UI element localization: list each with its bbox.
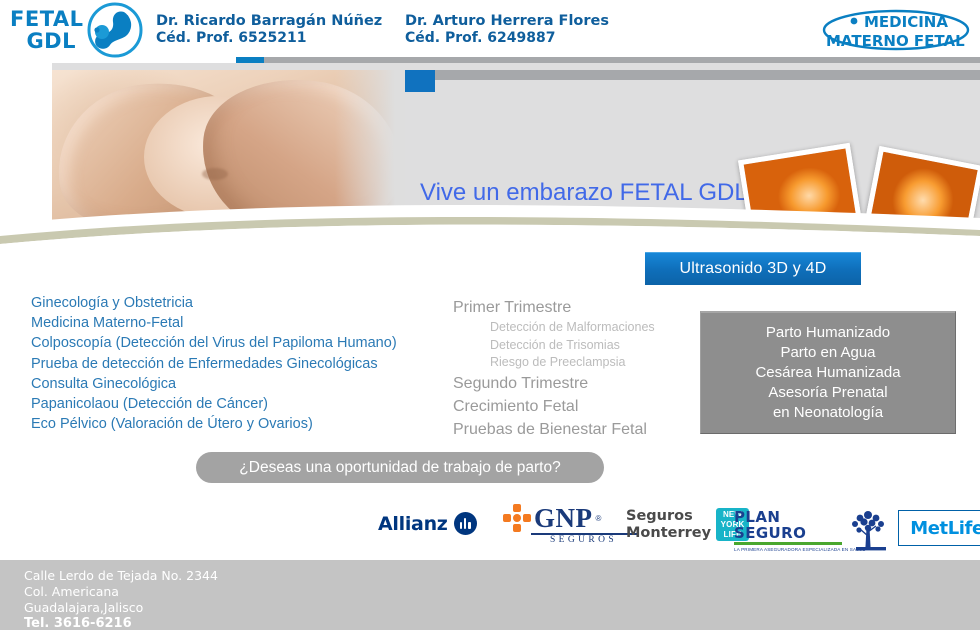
ultrasonido-3d-4d-button[interactable]: Ultrasonido 3D y 4D bbox=[645, 252, 861, 285]
gnp-label: GNP bbox=[534, 504, 593, 532]
allianz-bars-icon bbox=[454, 512, 477, 535]
list-item[interactable]: Papanicolaou (Detección de Cáncer) bbox=[31, 394, 461, 414]
fetal-gdl-wordmark[interactable]: FETAL GDL bbox=[10, 8, 80, 54]
birth-service-item: Cesárea Humanizada bbox=[755, 363, 900, 383]
address-colony: Col. Americana bbox=[24, 584, 218, 600]
allianz-label: Allianz bbox=[378, 513, 448, 535]
trimester-list: Primer Trimestre Detección de Malformaci… bbox=[453, 296, 683, 441]
page-header: FETAL GDL Dr. Ricardo Barragán Núñez Céd… bbox=[0, 0, 980, 60]
list-item[interactable]: Eco Pélvico (Valoración de Útero y Ovari… bbox=[31, 414, 461, 434]
ultrasonido-button-label: Ultrasonido 3D y 4D bbox=[680, 260, 827, 278]
list-item[interactable]: Consulta Ginecológica bbox=[31, 374, 461, 394]
address-city: Guadalajara,Jalisco bbox=[24, 600, 218, 616]
metlife-label: MetLife bbox=[910, 518, 980, 539]
birth-services-box: Parto Humanizado Parto en Agua Cesárea H… bbox=[700, 311, 956, 434]
birth-service-item: Parto en Agua bbox=[780, 343, 875, 363]
trimester-first-sub: Riesgo de Preeclampsia bbox=[453, 354, 683, 372]
banner-accent-gray-strip bbox=[435, 70, 980, 80]
birth-service-item: Parto Humanizado bbox=[766, 323, 890, 343]
seguros-monterrey-logo[interactable]: Seguros Monterrey NEW YORK LIFE bbox=[626, 508, 749, 541]
list-item[interactable]: Medicina Materno-Fetal bbox=[31, 313, 461, 333]
smty-line-1: Seguros bbox=[626, 508, 693, 524]
doctor-1-info: Dr. Ricardo Barragán Núñez Céd. Prof. 65… bbox=[156, 13, 382, 47]
doctor-2-license: Céd. Prof. 6249887 bbox=[405, 30, 609, 47]
gnp-starburst-icon bbox=[503, 504, 531, 532]
labor-opportunity-cta[interactable]: ¿Deseas una oportunidad de trabajo de pa… bbox=[196, 452, 604, 483]
fetal-wellbeing-tests: Pruebas de Bienestar Fetal bbox=[453, 418, 683, 441]
list-item[interactable]: Colposcopía (Detección del Virus del Pap… bbox=[31, 333, 461, 353]
gnp-seguros-logo[interactable]: GNP ® SEGUROS bbox=[503, 504, 638, 545]
svg-text:MEDICINA: MEDICINA bbox=[864, 13, 948, 31]
cta-label: ¿Deseas una oportunidad de trabajo de pa… bbox=[239, 459, 560, 477]
trimester-first: Primer Trimestre bbox=[453, 296, 683, 319]
insurance-partners: Allianz GNP ® SEGUROS Seguros Monterrey … bbox=[378, 502, 978, 554]
doctor-1-license: Céd. Prof. 6525211 bbox=[156, 30, 382, 47]
svg-text:MATERNO FETAL: MATERNO FETAL bbox=[826, 32, 965, 50]
banner-accent-blue-block bbox=[405, 70, 435, 92]
doctor-2-name: Dr. Arturo Herrera Flores bbox=[405, 13, 609, 30]
birth-service-item: en Neonatología bbox=[773, 403, 883, 423]
logo-line-1: FETAL bbox=[10, 8, 80, 30]
gnp-registered-mark: ® bbox=[596, 514, 602, 523]
trimester-first-sub: Detección de Malformaciones bbox=[453, 319, 683, 337]
page-footer: Calle Lerdo de Tejada No. 2344 Col. Amer… bbox=[0, 560, 980, 630]
fetus-logo-icon bbox=[84, 2, 146, 58]
wave-divider bbox=[0, 196, 980, 258]
metlife-logo[interactable]: MetLife bbox=[898, 510, 980, 546]
smty-line-2: Monterrey bbox=[626, 525, 711, 541]
clinic-landing-page: FETAL GDL Dr. Ricardo Barragán Núñez Céd… bbox=[0, 0, 980, 630]
list-item[interactable]: Ginecología y Obstetricia bbox=[31, 293, 461, 313]
tree-icon bbox=[842, 506, 894, 552]
trimester-second: Segundo Trimestre bbox=[453, 372, 683, 395]
birth-service-item: Asesoría Prenatal bbox=[768, 383, 887, 403]
fetal-growth: Crecimiento Fetal bbox=[453, 395, 683, 418]
plan-seguro-logo[interactable]: PLAN SEGURO LA PRIMERA ASEGURADORA ESPEC… bbox=[734, 510, 894, 552]
navel bbox=[202, 168, 228, 180]
list-item[interactable]: Prueba de detección de Enfermedades Gine… bbox=[31, 354, 461, 374]
services-list: Ginecología y Obstetricia Medicina Mater… bbox=[31, 293, 461, 434]
doctor-2-info: Dr. Arturo Herrera Flores Céd. Prof. 624… bbox=[405, 13, 609, 47]
allianz-logo[interactable]: Allianz bbox=[378, 512, 477, 535]
logo-line-2: GDL bbox=[10, 30, 80, 52]
clinic-address: Calle Lerdo de Tejada No. 2344 Col. Amer… bbox=[24, 568, 218, 632]
doctor-1-name: Dr. Ricardo Barragán Núñez bbox=[156, 13, 382, 30]
address-street: Calle Lerdo de Tejada No. 2344 bbox=[24, 568, 218, 584]
gnp-sublabel: SEGUROS bbox=[503, 535, 638, 545]
trimester-first-sub: Detección de Trisomias bbox=[453, 337, 683, 355]
seguros-monterrey-label: Seguros Monterrey bbox=[626, 508, 711, 541]
plan-seguro-rule bbox=[734, 542, 842, 545]
medicina-materno-fetal-logo[interactable]: MEDICINA MATERNO FETAL bbox=[820, 6, 972, 54]
